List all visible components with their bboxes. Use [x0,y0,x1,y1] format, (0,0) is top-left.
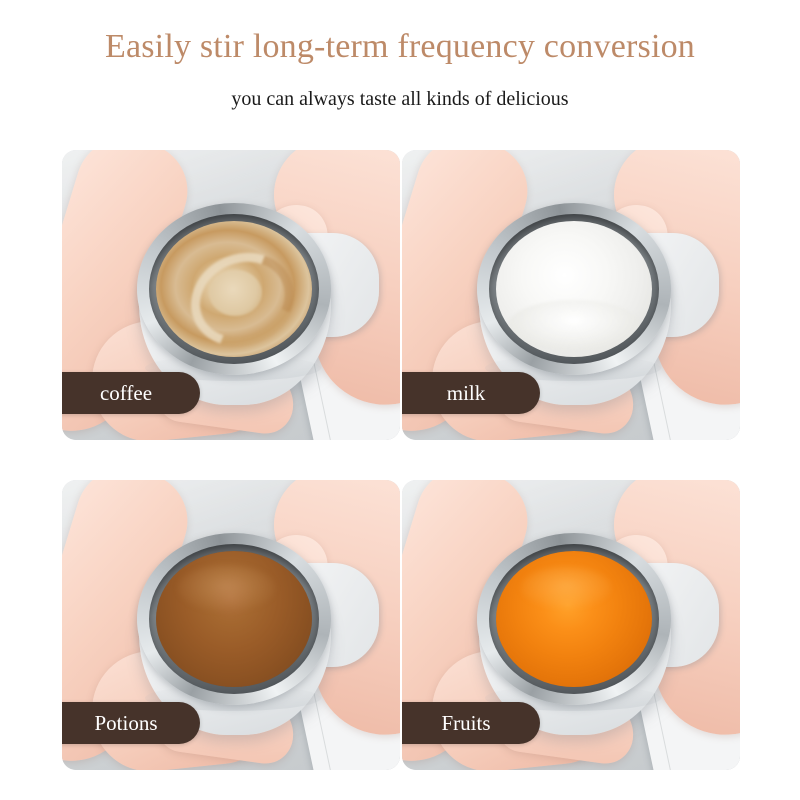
caption-badge-milk: milk [402,372,540,414]
page-header: Easily stir long-term frequency conversi… [0,0,800,112]
page-title: Easily stir long-term frequency conversi… [0,26,800,68]
liquid-highlight [178,565,275,611]
liquid-surface-milk [496,221,652,357]
liquid-surface-potions [156,551,312,687]
liquid-surface-coffee [156,221,312,357]
page-subtitle: you can always taste all kinds of delici… [0,86,800,112]
self-stirring-mug [137,203,333,399]
liquid-highlight [521,567,611,608]
photo-card-coffee[interactable]: coffee [62,150,400,440]
beverage-photo-grid: coffee milk [62,150,740,770]
liquid-froth [508,300,639,352]
photo-card-milk[interactable]: milk [402,150,740,440]
self-stirring-mug [477,533,673,729]
photo-card-potions[interactable]: Potions [62,480,400,770]
caption-badge-fruits: Fruits [402,702,540,744]
liquid-swirl [209,270,262,316]
self-stirring-mug [477,203,673,399]
self-stirring-mug [137,533,333,729]
liquid-surface-fruits [496,551,652,687]
photo-card-fruits[interactable]: Fruits [402,480,740,770]
caption-badge-potions: Potions [62,702,200,744]
caption-badge-coffee: coffee [62,372,200,414]
